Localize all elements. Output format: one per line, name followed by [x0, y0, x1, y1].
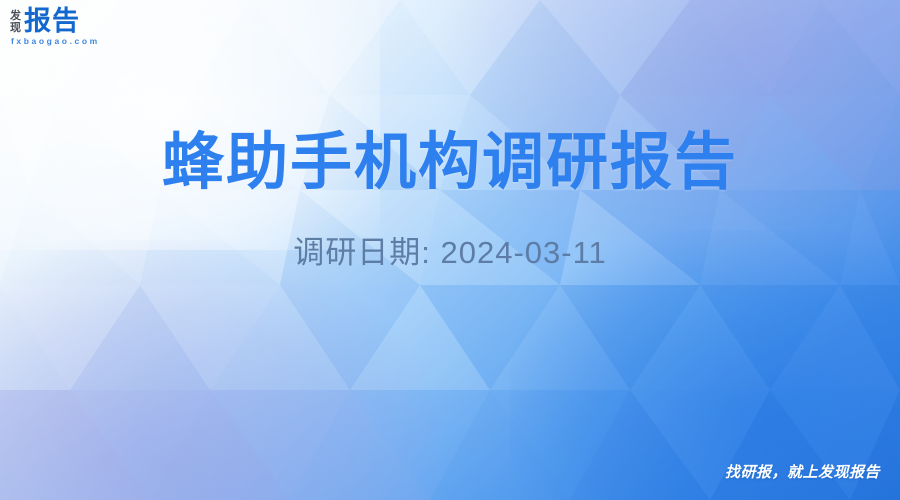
- report-cover-slide: 发 现 报告 fxbaogao.com 蜂助手机构调研报告 调研日期: 2024…: [0, 0, 900, 500]
- page-title: 蜂助手机构调研报告: [0, 124, 900, 202]
- site-logo[interactable]: 发 现 报告: [10, 8, 80, 35]
- footer-tagline: 找研报，就上发现报告: [725, 461, 880, 482]
- logo-domain-text: fxbaogao.com: [11, 36, 100, 46]
- survey-date-subtitle: 调研日期: 2024-03-11: [0, 233, 900, 273]
- logo-wordmark: 报告: [24, 8, 80, 35]
- logo-mark-top-char: 发: [10, 11, 21, 23]
- logo-mark: 发 现: [10, 8, 21, 34]
- logo-mark-bottom-char: 现: [10, 23, 21, 35]
